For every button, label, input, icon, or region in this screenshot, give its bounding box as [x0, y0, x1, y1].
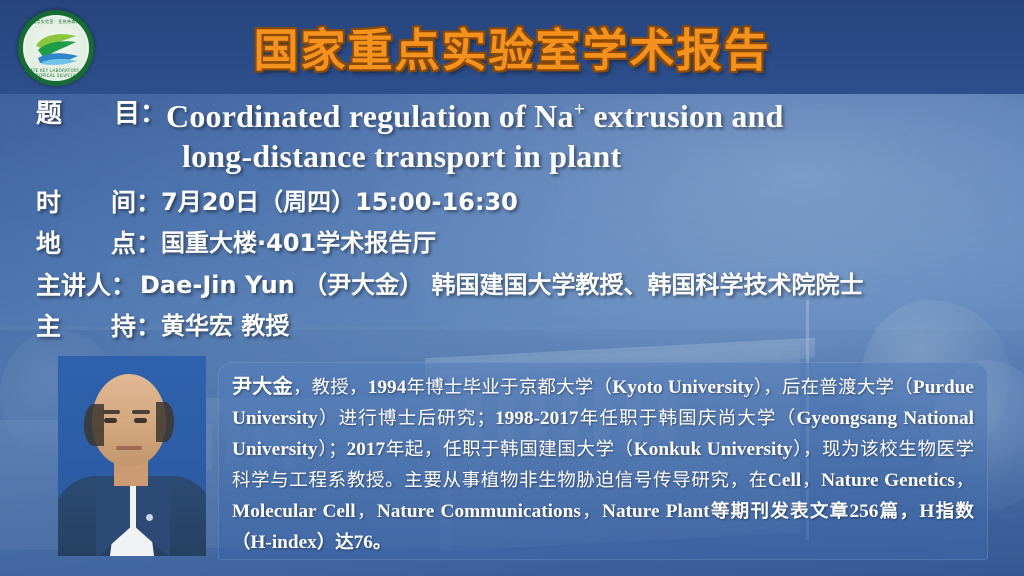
- portrait-hair-right: [156, 402, 174, 442]
- bio-segment: Konkuk University: [634, 439, 793, 460]
- place-value: 国重大楼·401学术报告厅: [161, 226, 436, 261]
- time-label: 时 间：: [36, 185, 161, 221]
- bio-segment: Kyoto University: [612, 377, 753, 398]
- speaker-portrait: [58, 356, 206, 556]
- topic-line2: long-distance transport in plant: [166, 136, 784, 176]
- bio-segment: ）进行博士后研究；: [318, 408, 495, 429]
- bio-segment: 1994: [368, 377, 407, 398]
- speaker-label: 主讲人：: [36, 268, 140, 304]
- bio-speaker-name: 尹大金: [232, 374, 293, 398]
- topic-superscript: +: [574, 98, 586, 120]
- row-topic: 题 目： Coordinated regulation of Na+ extru…: [36, 96, 996, 177]
- speaker-value: Dae-Jin Yun （尹大金） 韩国建国大学教授、韩国科学技术院院士: [140, 268, 863, 303]
- portrait-eye-left: [104, 418, 117, 423]
- portrait-eye-right: [134, 418, 147, 423]
- bio-segment: 等期刊发表文章: [710, 501, 850, 522]
- row-speaker: 主讲人： Dae-Jin Yun （尹大金） 韩国建国大学教授、韩国科学技术院院…: [36, 268, 996, 304]
- bio-segment: Nature Plant: [602, 501, 710, 522]
- speaker-bio-text: 尹大金，教授，1994年博士毕业于京都大学（Kyoto University），…: [232, 370, 974, 559]
- logo-leaf-wave-icon: [32, 30, 80, 66]
- host-label: 主 持：: [36, 309, 161, 345]
- bio-segment: 年博士毕业于京都大学（: [406, 377, 612, 398]
- bio-segment: H-index: [250, 532, 316, 553]
- bio-segment: 76: [354, 532, 373, 553]
- header-band: 国家重点实验室学术报告: [0, 0, 1024, 94]
- portrait-mouth: [116, 446, 142, 450]
- topic-line1-b: extrusion and: [585, 98, 783, 134]
- speaker-bio-box: 尹大金，教授，1994年博士毕业于京都大学（Kyoto University），…: [218, 362, 988, 560]
- bio-segment: ，教授，: [293, 377, 368, 398]
- info-block: 题 目： Coordinated regulation of Na+ extru…: [36, 96, 996, 347]
- bio-segment: H: [919, 501, 934, 522]
- row-time: 时 间： 7月20日（周四）15:00-16:30: [36, 185, 996, 221]
- bio-segment: 年任职于韩国庆尚大学（: [579, 408, 797, 429]
- bio-segment: 1998-2017: [495, 408, 579, 429]
- poster-canvas: 国家重点实验室学术报告 国家重点实验室 · 亚热带森林培育 STATE KEY …: [0, 0, 1024, 576]
- row-host: 主 持： 黄华宏 教授: [36, 309, 996, 345]
- portrait-lapel-pin: [146, 514, 153, 521]
- logo-text-top: 国家重点实验室 · 亚热带森林培育: [18, 19, 94, 25]
- place-label: 地 点：: [36, 226, 161, 262]
- bio-segment: 256: [850, 501, 879, 522]
- portrait-eyebrow-left: [102, 410, 120, 414]
- page-title: 国家重点实验室学术报告: [0, 14, 1024, 79]
- bio-segment: ）；: [318, 439, 347, 460]
- topic-value: Coordinated regulation of Na+ extrusion …: [166, 96, 784, 177]
- bio-segment: ，: [801, 470, 821, 491]
- portrait-eyebrow-right: [132, 410, 150, 414]
- bio-segment: ），后在普渡大学（: [754, 377, 913, 398]
- host-value: 黄华宏 教授: [161, 309, 289, 344]
- time-value: 7月20日（周四）15:00-16:30: [161, 185, 518, 220]
- portrait-hair-left: [84, 404, 104, 446]
- row-place: 地 点： 国重大楼·401学术报告厅: [36, 226, 996, 262]
- bio-segment: Nature Genetics: [821, 470, 955, 491]
- bio-segment: ，: [955, 470, 974, 491]
- bio-body: ，教授，1994年博士毕业于京都大学（Kyoto University），后在普…: [232, 377, 974, 553]
- logo-text-bottom: STATE KEY LABORATORY OF SUBTROPICAL SILV…: [18, 68, 94, 78]
- bio-segment: Nature Communications: [377, 501, 581, 522]
- bio-segment: Cell: [768, 470, 801, 491]
- topic-label: 题 目：: [36, 96, 166, 133]
- bio-segment: Molecular Cell: [232, 501, 356, 522]
- bio-segment: 年起，任职于韩国建国大学（: [385, 439, 634, 460]
- bio-segment: ，: [581, 501, 602, 522]
- bio-segment: 。: [373, 532, 391, 553]
- state-key-laboratory-logo: 国家重点实验室 · 亚热带森林培育 STATE KEY LABORATORY O…: [18, 10, 94, 86]
- bio-segment: ）达: [317, 532, 354, 553]
- bio-segment: 篇，: [878, 501, 919, 522]
- bio-segment: ，: [356, 501, 377, 522]
- topic-line1-a: Coordinated regulation of Na: [166, 98, 574, 134]
- bio-segment: 2017: [347, 439, 386, 460]
